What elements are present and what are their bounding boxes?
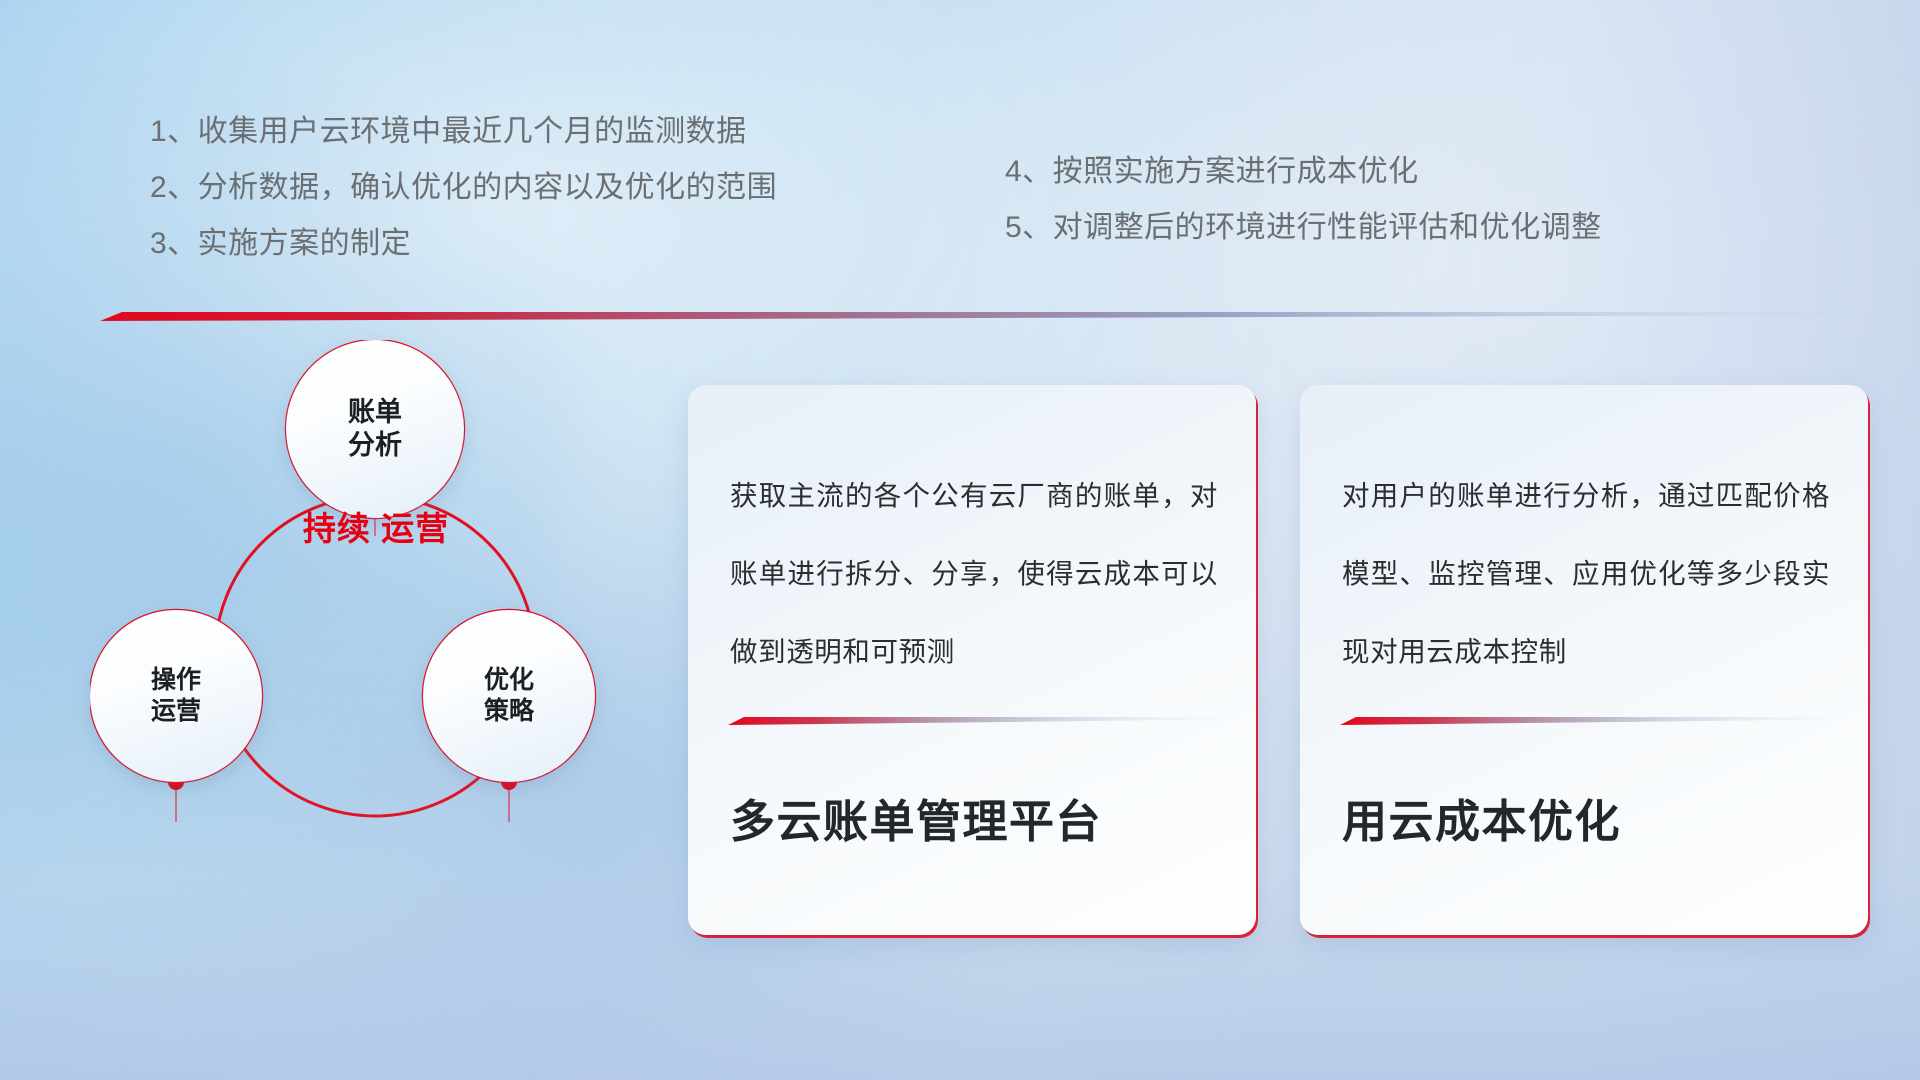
bullet-list-group: 1、收集用户云环境中最近几个月的监测数据 2、分析数据，确认优化的内容以及优化的… [0, 104, 1920, 294]
card-multicloud-billing[interactable]: 获取主流的各个公有云厂商的账单，对账单进行拆分、分享，使得云成本可以做到透明和可… [688, 385, 1256, 935]
card-cloud-cost-optimization[interactable]: 对用户的账单进行分析，通过匹配价格模型、监控管理、应用优化等多少段实现对用云成本… [1300, 385, 1868, 935]
bullet-item-4: 4、按照实施方案进行成本优化 [1005, 144, 1602, 200]
cycle-node-operations-line2: 运营 [151, 696, 201, 727]
cycle-node-optimization-strategy-line1: 优化 [484, 665, 534, 696]
cycle-node-bill-analysis-line1: 账单 [348, 396, 402, 429]
cycle-node-operations[interactable]: 操作 运营 [90, 610, 262, 782]
cycle-node-optimization-strategy[interactable]: 优化 策略 [423, 610, 595, 782]
card-multicloud-billing-body: 获取主流的各个公有云厂商的账单，对账单进行拆分、分享，使得云成本可以做到透明和可… [730, 457, 1218, 691]
cycle-node-bill-analysis[interactable]: 账单 分析 [286, 340, 464, 518]
card-cloud-cost-optimization-title: 用云成本优化 [1342, 785, 1621, 850]
section-divider [100, 310, 1882, 322]
cycle-node-bill-analysis-line2: 分析 [348, 429, 402, 462]
cycle-center-label: 持续 运营 [286, 508, 466, 550]
card-multicloud-billing-title: 多云账单管理平台 [730, 785, 1102, 850]
bullet-item-2: 2、分析数据，确认优化的内容以及优化的范围 [150, 160, 777, 216]
bullet-column-left: 1、收集用户云环境中最近几个月的监测数据 2、分析数据，确认优化的内容以及优化的… [150, 104, 777, 272]
bullet-column-right: 4、按照实施方案进行成本优化 5、对调整后的环境进行性能评估和优化调整 [1005, 144, 1602, 256]
slide-canvas: 1、收集用户云环境中最近几个月的监测数据 2、分析数据，确认优化的内容以及优化的… [0, 0, 1920, 1080]
bullet-item-5: 5、对调整后的环境进行性能评估和优化调整 [1005, 200, 1602, 256]
cycle-center-label-line2: 运营 [381, 510, 449, 547]
bullet-item-1: 1、收集用户云环境中最近几个月的监测数据 [150, 104, 777, 160]
bullet-item-3: 3、实施方案的制定 [150, 216, 777, 272]
card-cloud-cost-optimization-body: 对用户的账单进行分析，通过匹配价格模型、监控管理、应用优化等多少段实现对用云成本… [1342, 457, 1830, 691]
cycle-node-optimization-strategy-line2: 策略 [484, 696, 534, 727]
cycle-node-operations-line1: 操作 [151, 665, 201, 696]
card-multicloud-billing-rule [728, 715, 1228, 726]
card-cloud-cost-optimization-rule [1340, 715, 1840, 726]
cycle-center-label-line1: 持续 [303, 510, 371, 547]
cycle-diagram: 账单 分析 操作 运营 优化 策略 持续 运营 [90, 340, 620, 960]
